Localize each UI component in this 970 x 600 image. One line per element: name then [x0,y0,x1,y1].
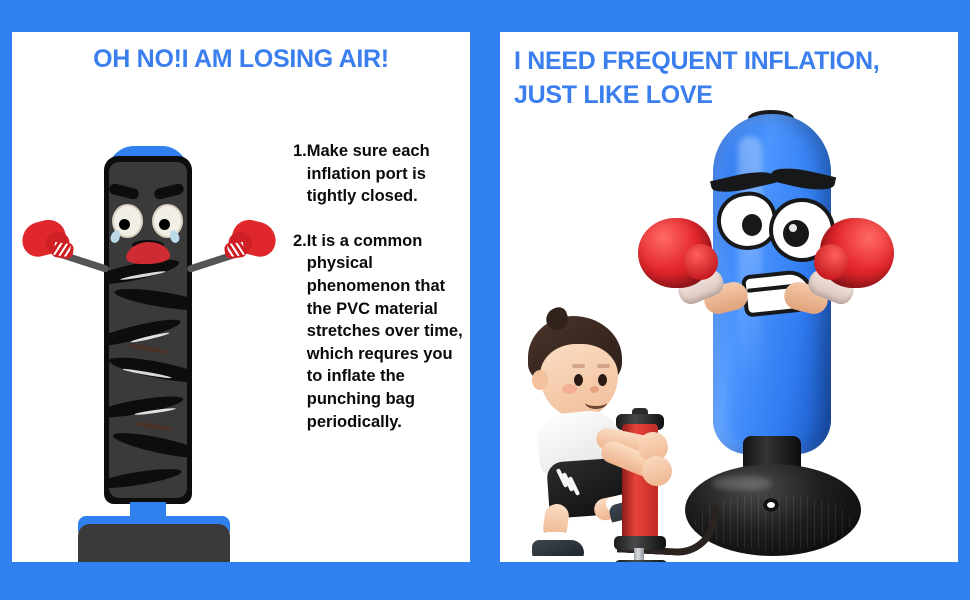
panel-right: I NEED FREQUENT INFLATION, JUST LIKE LOV… [500,32,958,562]
sneaker-sole [532,556,584,562]
instruction-number: 2. [293,230,307,433]
instruction-text: It is a common physical phenomenon that … [307,230,470,433]
sad-face [104,164,192,264]
boy-eye-right [598,374,607,386]
left-panel-title: OH NO!I AM LOSING AIR! [12,44,470,74]
eyebrow-right-icon [770,163,836,195]
instruction-item: 2. It is a common physical phenomenon th… [293,230,470,433]
boxing-glove-right-icon [802,218,894,326]
eyebrow-left-icon [108,183,140,201]
boy-eye-left [574,374,583,386]
eyebrow-right-icon [153,183,185,201]
boy-ear [532,370,548,390]
boy-character [510,308,700,558]
instruction-number: 1. [293,140,307,208]
instruction-text: Make sure each inflation port is tightly… [307,140,470,208]
glove-thumb [684,244,718,280]
pupil-left [119,219,130,230]
glove-thumb [814,244,848,280]
infographic-root: OH NO!I AM LOSING AIR! [0,0,970,600]
glove-laces [227,242,245,257]
instruction-item: 1. Make sure each inflation port is tigh… [293,140,470,208]
boxing-glove-right-icon [218,214,279,269]
boy-nose [590,386,599,393]
pupil-highlight [789,224,797,232]
boy-smile [585,396,607,409]
boy-eyebrow-right [597,364,610,368]
inflation-valve-icon [763,498,779,512]
bag-base [78,524,230,562]
inflated-bag-scene [500,32,958,562]
pupil-left [742,214,762,236]
glove-laces [53,242,71,257]
base-highlight [712,476,772,490]
boy-cheek-blush [562,384,577,394]
boy-eyebrow-left [572,364,585,368]
panel-left: OH NO!I AM LOSING AIR! [12,32,470,562]
deflated-bag-character [20,130,285,562]
boy-hand-lower [642,456,672,486]
pupil-right [159,219,170,230]
pump-foot-plate [614,560,668,562]
instruction-list: 1. Make sure each inflation port is tigh… [293,140,470,455]
